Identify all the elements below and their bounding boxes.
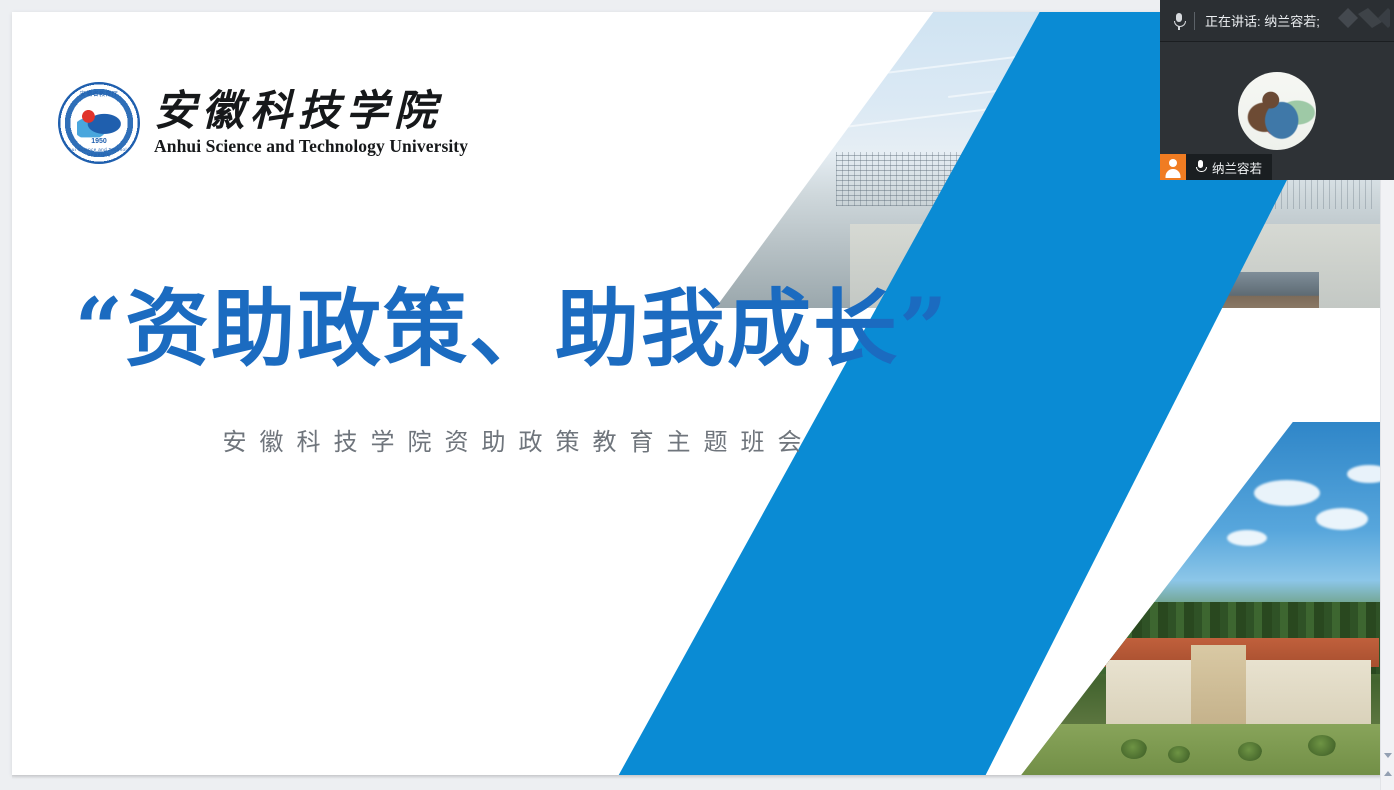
university-logo-lockup: 安徽省教育厅 1950 Anhui Science and Technology…: [58, 82, 468, 164]
chevron-up-icon[interactable]: [1384, 771, 1392, 776]
participant-video-tile[interactable]: 纳兰容若: [1160, 42, 1394, 180]
active-speaker-label: 正在讲话: 纳兰容若;: [1205, 11, 1320, 30]
chevron-down-icon[interactable]: [1384, 753, 1392, 758]
slide-bottom-shadow: [12, 775, 1382, 779]
emblem-ring-bottom-text: Anhui Science and Technology University: [60, 147, 138, 157]
microphone-icon: [1172, 12, 1186, 30]
emblem-ring-top-text: 安徽省教育厅: [60, 89, 138, 98]
video-conference-panel[interactable]: 正在讲话: 纳兰容若; 纳兰容若: [1160, 0, 1394, 180]
participant-avatar: [1238, 72, 1316, 150]
emblem-bird-icon: [77, 107, 121, 137]
slide-subtitle: 安徽科技学院资助政策教育主题班会: [12, 422, 1012, 457]
heritage-entrance: [1191, 645, 1246, 731]
slide-title: “资助政策、助我成长”: [12, 282, 1012, 376]
university-name-en: Anhui Science and Technology University: [154, 136, 468, 157]
user-avatar-icon: [1160, 154, 1186, 180]
university-emblem-icon: 安徽省教育厅 1950 Anhui Science and Technology…: [58, 82, 140, 164]
emblem-year: 1950: [60, 138, 138, 145]
university-wordmark: 安徽科技学院 Anhui Science and Technology Univ…: [154, 89, 468, 157]
participant-name-chip: 纳兰容若: [1160, 154, 1272, 180]
university-name-cn: 安徽科技学院: [154, 89, 468, 134]
app-root: 安徽省教育厅 1950 Anhui Science and Technology…: [0, 0, 1394, 790]
vertical-scrollbar[interactable]: [1380, 180, 1394, 790]
participant-name: 纳兰容若: [1212, 158, 1262, 177]
microphone-icon: [1194, 159, 1206, 175]
topbar-divider: [1194, 12, 1195, 30]
slide-headline-block: “资助政策、助我成长” 安徽科技学院资助政策教育主题班会: [12, 282, 1012, 457]
collapse-chevrons-icon[interactable]: [1336, 6, 1390, 32]
video-panel-topbar: 正在讲话: 纳兰容若;: [1160, 0, 1394, 42]
